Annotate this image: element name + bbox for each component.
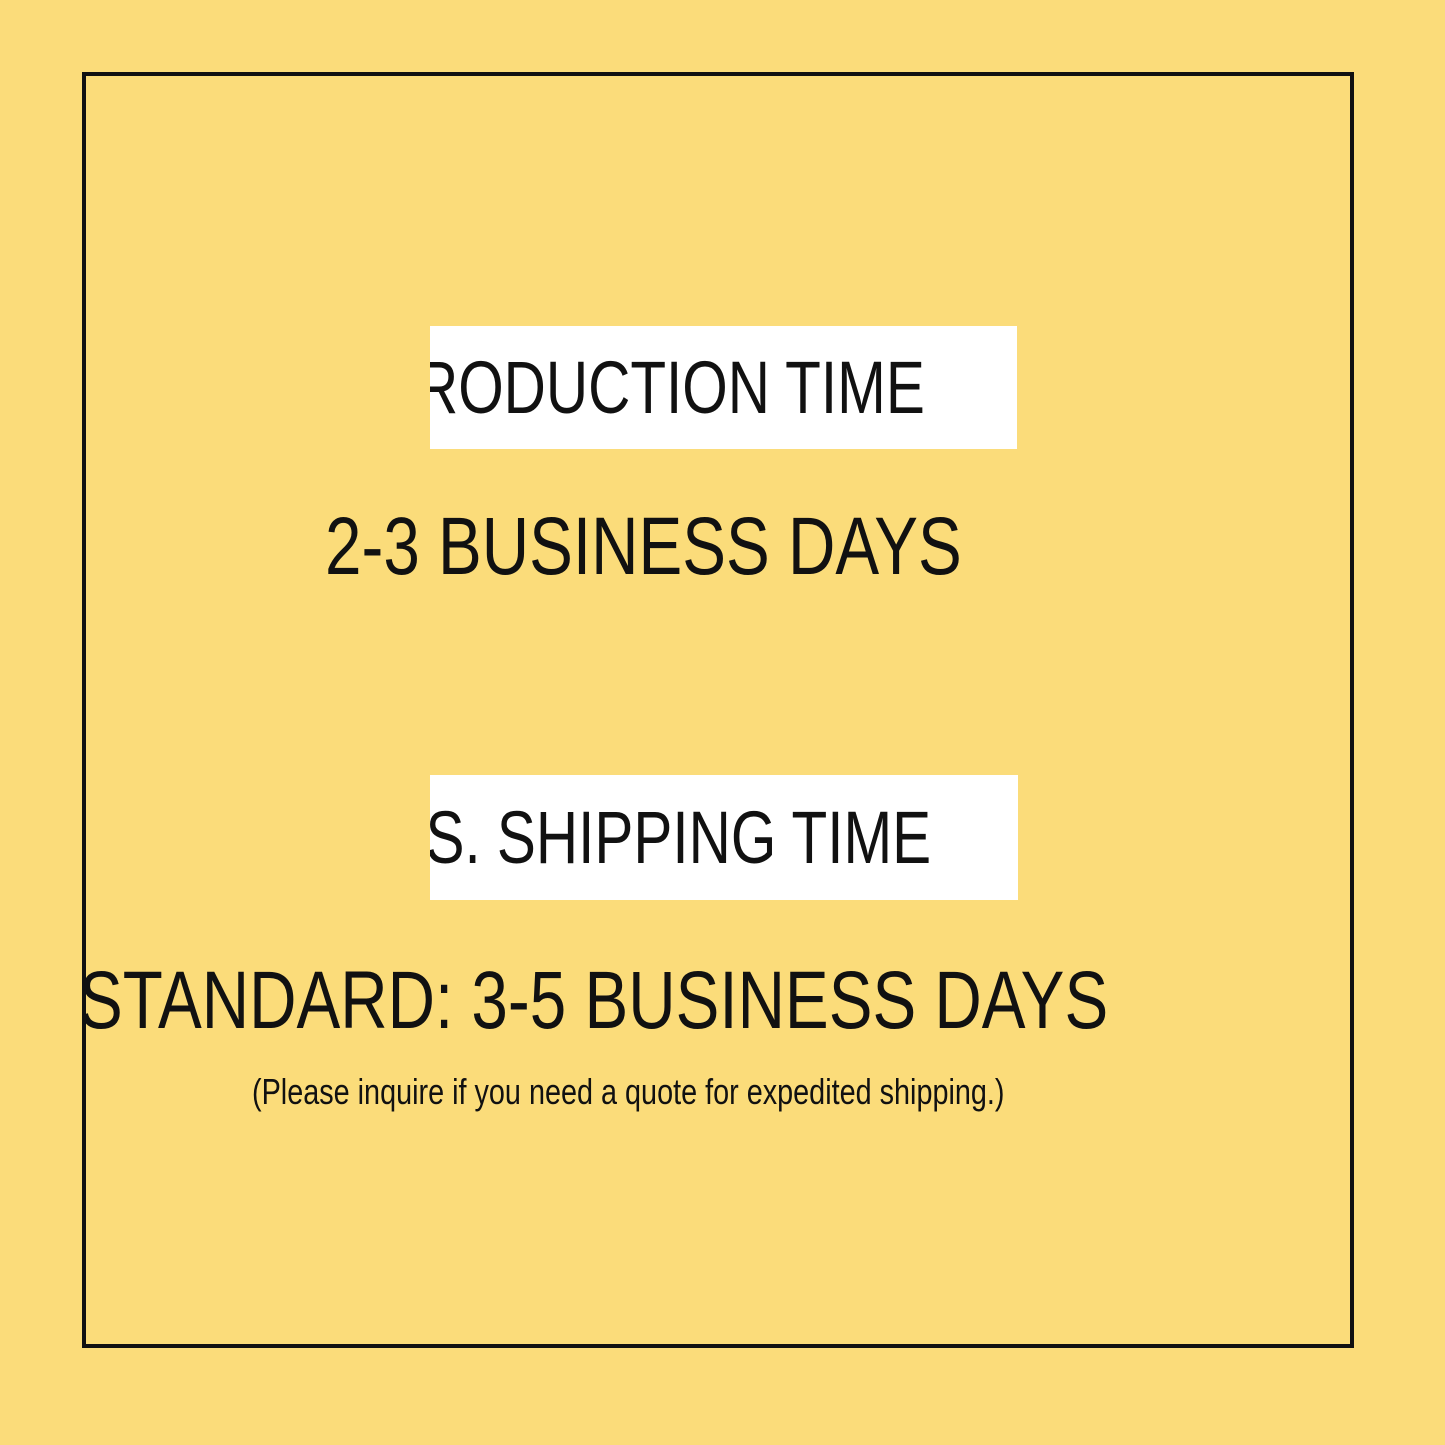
- production-time-label: PRODUCTION TIME: [430, 351, 925, 425]
- shipping-time-value-row: STANDARD: 3-5 BUSINESS DAYS: [0, 954, 1445, 1048]
- production-time-label-plate: PRODUCTION TIME: [430, 326, 1017, 449]
- production-time-value-row: 2-3 BUSINESS DAYS: [0, 500, 1445, 594]
- shipping-time-value: STANDARD: 3-5 BUSINESS DAYS: [79, 960, 1108, 1042]
- shipping-info-poster: PRODUCTION TIME 2-3 BUSINESS DAYS U.S. S…: [0, 0, 1445, 1445]
- shipping-time-label: U.S. SHIPPING TIME: [430, 801, 931, 875]
- shipping-time-note-row: (Please inquire if you need a quote for …: [0, 1071, 1445, 1113]
- shipping-time-note: (Please inquire if you need a quote for …: [252, 1074, 1005, 1110]
- production-time-value: 2-3 BUSINESS DAYS: [325, 506, 962, 588]
- poster-border-frame: [82, 72, 1354, 1348]
- shipping-time-label-plate: U.S. SHIPPING TIME: [430, 775, 1018, 900]
